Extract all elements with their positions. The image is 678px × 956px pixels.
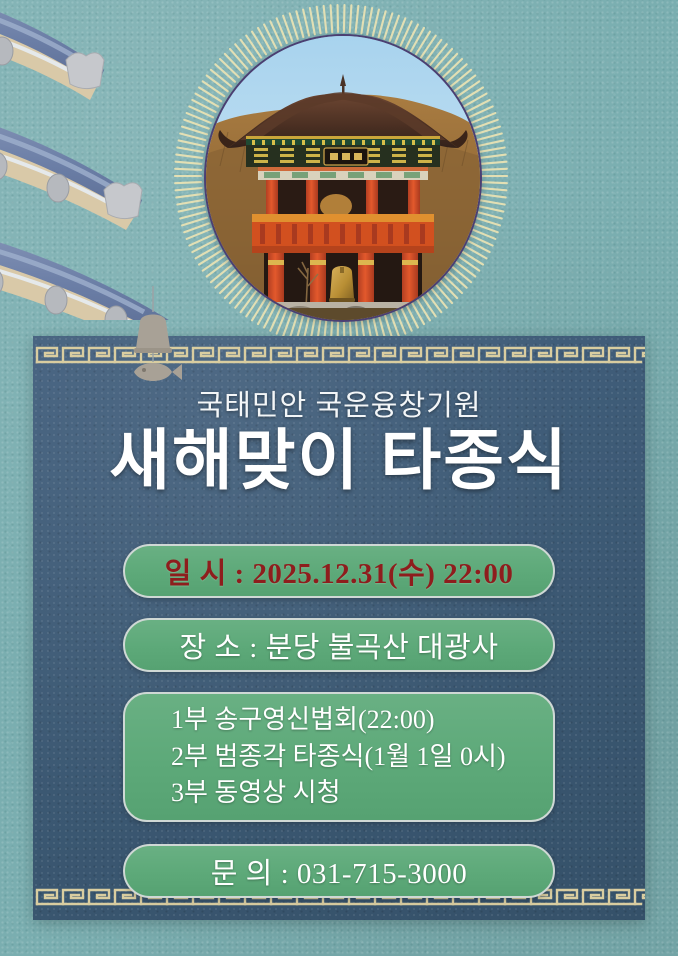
info-panel: 국태민안 국운융창기원 새해맞이 타종식 일 시 : 2025.12.31(수)… bbox=[33, 336, 645, 920]
program-line-2: 2부 범종각 타종식(1월 1일 0시) bbox=[171, 739, 506, 776]
info-place-text: 장 소 : 분당 불곡산 대광사 bbox=[179, 624, 498, 666]
info-contact-text: 문 의 : 031-715-3000 bbox=[211, 850, 467, 892]
hanok-roof-eaves bbox=[0, 0, 260, 320]
info-date-text: 일 시 : 2025.12.31(수) 22:00 bbox=[165, 550, 514, 592]
program-line-1: 1부 송구영신법회(22:00) bbox=[171, 702, 434, 739]
poster-title: 새해맞이 타종식 bbox=[33, 424, 645, 498]
program-line-3: 3부 동영상 시청 bbox=[171, 775, 341, 812]
poster-root: 국태민안 국운융창기원 새해맞이 타종식 일 시 : 2025.12.31(수)… bbox=[0, 0, 678, 956]
info-pill-program: 1부 송구영신법회(22:00) 2부 범종각 타종식(1월 1일 0시) 3부… bbox=[123, 692, 555, 822]
info-pill-contact: 문 의 : 031-715-3000 bbox=[123, 844, 555, 898]
hanging-wind-bell-icon bbox=[118, 286, 188, 394]
info-pill-date: 일 시 : 2025.12.31(수) 22:00 bbox=[123, 544, 555, 598]
info-pill-place: 장 소 : 분당 불곡산 대광사 bbox=[123, 618, 555, 672]
